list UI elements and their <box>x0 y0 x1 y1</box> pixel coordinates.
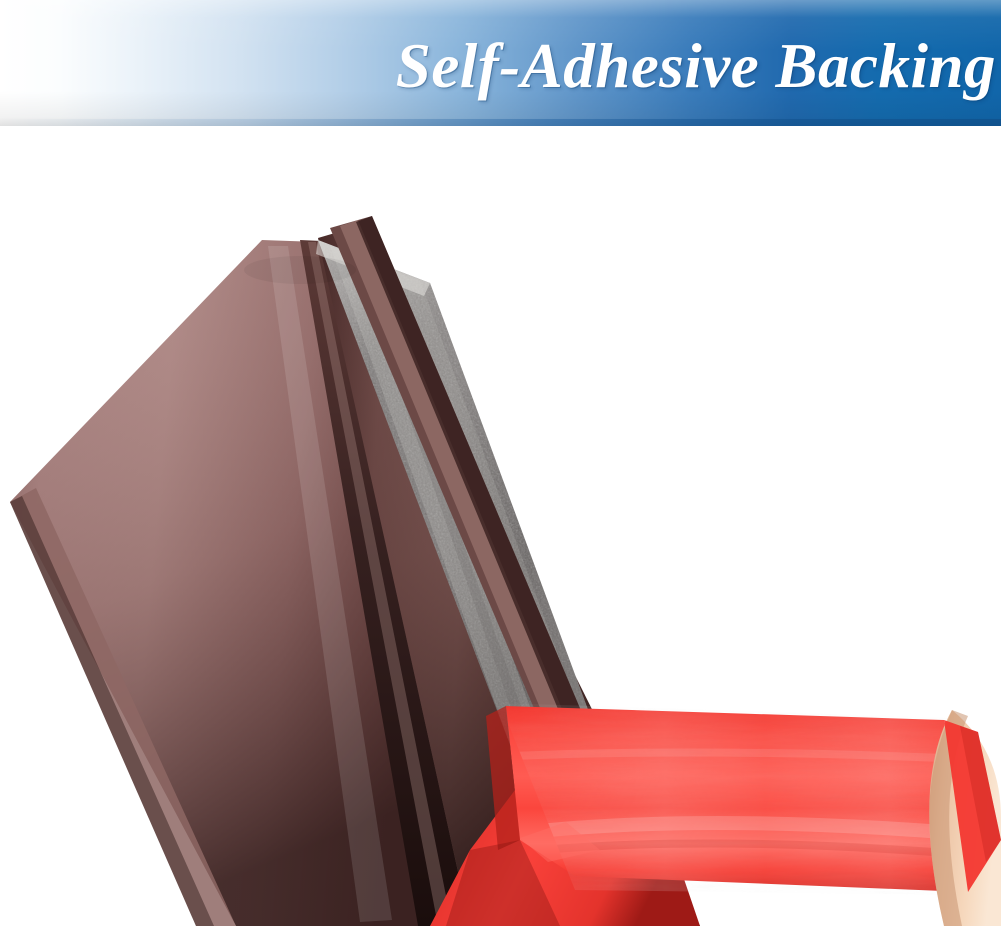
banner-underline <box>0 119 1001 126</box>
product-feature-image: Self-Adhesive Backing The flexible floor… <box>0 0 1001 926</box>
header-banner: Self-Adhesive Backing <box>0 0 1001 126</box>
page-title: Self-Adhesive Backing <box>306 16 996 116</box>
product-photo <box>0 150 1001 926</box>
strip-contact-shadow <box>244 256 356 284</box>
